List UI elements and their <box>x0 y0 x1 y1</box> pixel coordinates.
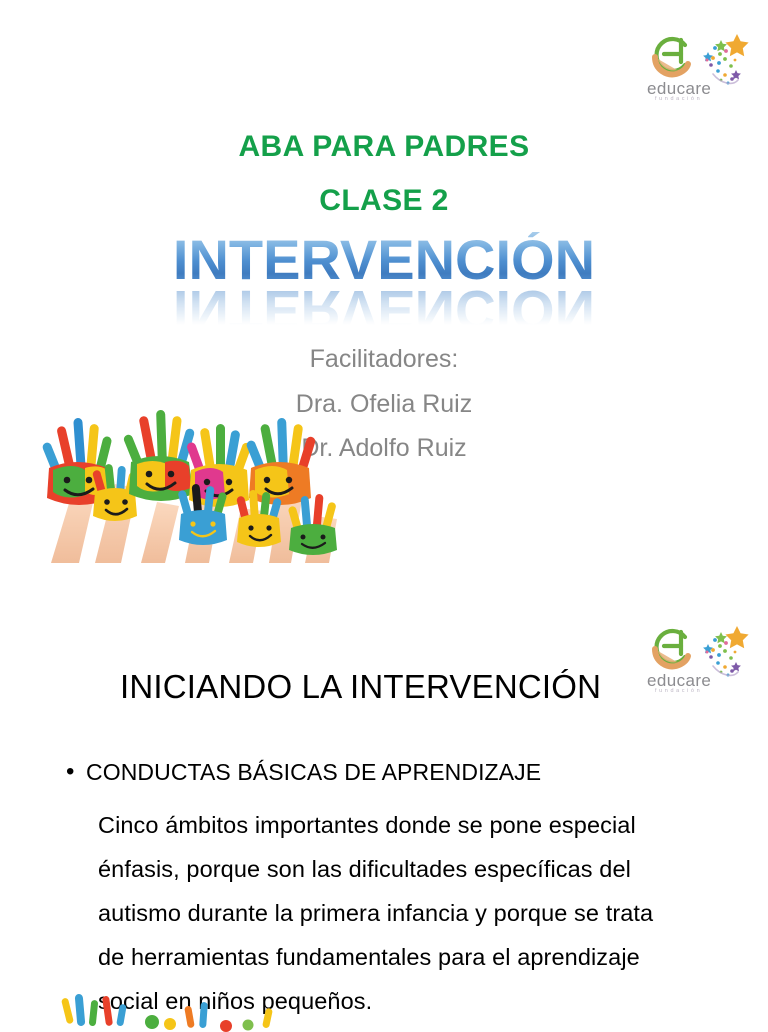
painted-hands-image-bottom <box>60 992 290 1032</box>
wordart-intervencion: INTERVENCIÓN INTERVENCIÓN <box>0 232 768 350</box>
slide-title-line-2: CLASE 2 <box>0 182 768 220</box>
slide-title-line-1: ABA PARA PADRES <box>0 128 768 166</box>
bullet-marker-icon: • <box>66 758 86 786</box>
educare-logo-slide-2: educare fundación <box>645 620 750 700</box>
painted-hands-illustration-icon <box>33 398 348 563</box>
painted-hands-illustration-icon <box>60 992 290 1032</box>
slide-title: educare fundación ABA PARA PADRES CLASE … <box>0 0 768 576</box>
educare-wordmark: educare <box>647 672 711 689</box>
body-paragraph: Cinco ámbitos importantes donde se pone … <box>98 803 668 1023</box>
painted-hands-image <box>33 398 348 563</box>
bullet-item: • CONDUCTAS BÁSICAS DE APRENDIZAJE <box>66 758 686 786</box>
educare-subtitle: fundación <box>655 689 702 695</box>
educare-subtitle: fundación <box>655 97 702 103</box>
bullet-label: CONDUCTAS BÁSICAS DE APRENDIZAJE <box>86 758 541 786</box>
wordart-reflection: INTERVENCIÓN <box>0 282 768 338</box>
facilitators-label: Facilitadores: <box>0 347 768 372</box>
educare-logo: educare fundación <box>645 28 750 108</box>
content-slide-heading: INICIANDO LA INTERVENCIÓN <box>120 670 601 703</box>
educare-wordmark: educare <box>647 80 711 97</box>
